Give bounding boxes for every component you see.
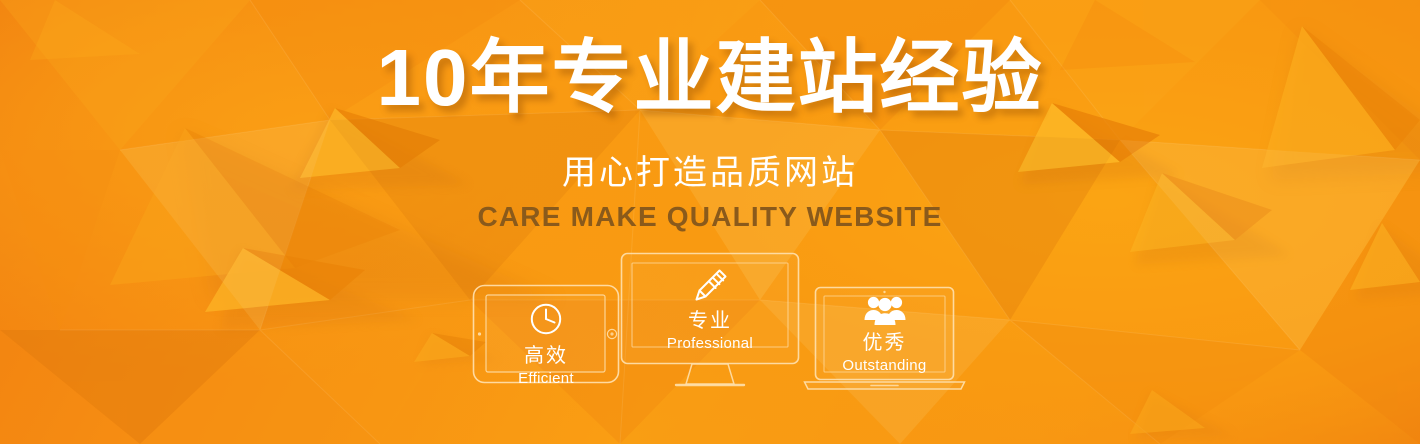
banner-content: 10年专业建站经验 用心打造品质网站 CARE MAKE QUALITY WEB… xyxy=(0,0,1420,444)
monitor-device-outline xyxy=(620,252,800,398)
tablet-device-outline xyxy=(472,284,620,384)
subtitle-chinese: 用心打造品质网站 xyxy=(0,152,1420,194)
feature-device-row: 高效 Efficient xyxy=(0,252,1420,412)
subtitle-english: CARE MAKE QUALITY WEBSITE xyxy=(0,200,1420,234)
page-title: 10年专业建站经验 xyxy=(0,34,1420,122)
feature-card-efficient[interactable]: 高效 Efficient xyxy=(472,284,620,384)
feature-card-outstanding[interactable]: 优秀 Outstanding xyxy=(803,286,966,398)
laptop-device-outline xyxy=(803,286,966,398)
promo-banner: 10年专业建站经验 用心打造品质网站 CARE MAKE QUALITY WEB… xyxy=(0,0,1420,444)
feature-card-professional[interactable]: 专业 Professional xyxy=(620,252,800,398)
